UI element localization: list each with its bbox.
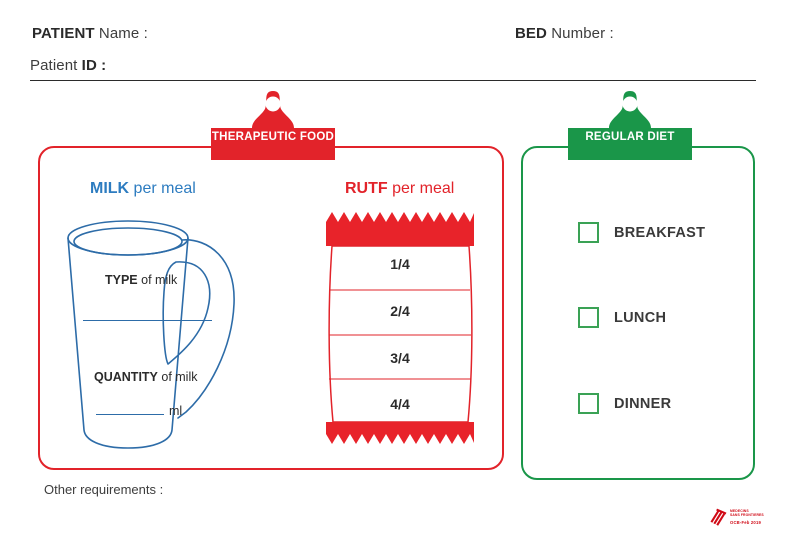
patient-id-label-strong: ID :: [82, 57, 107, 74]
milk-unit-label: ml: [169, 404, 182, 418]
msf-logo: MEDECINS SANS FRONTIERES OCB-Feb 2019: [708, 506, 778, 538]
milk-quantity-strong: QUANTITY: [94, 370, 158, 384]
milk-heading-strong: MILK: [90, 180, 129, 197]
msf-logo-mark-icon: [708, 507, 728, 527]
tab-regular-diet[interactable]: REGULAR DIET: [568, 90, 692, 160]
bed-number-label-rest: Number :: [547, 25, 614, 42]
checkbox-breakfast[interactable]: [578, 222, 599, 243]
milk-quantity-label: QUANTITY of milk: [94, 370, 197, 384]
milk-section-heading: MILK per meal: [90, 180, 196, 198]
msf-reference-code: OCB-Feb 2019: [730, 520, 761, 525]
form-page: PATIENT Name : BED Number : Patient ID :…: [0, 0, 785, 551]
patient-name-label-strong: PATIENT: [32, 25, 95, 42]
patient-id-field[interactable]: Patient ID :: [30, 57, 106, 74]
checkbox-dinner[interactable]: [578, 393, 599, 414]
header-divider: [30, 80, 756, 81]
rutf-section-heading: RUTF per meal: [345, 180, 454, 198]
rutf-fraction[interactable]: 1/4: [322, 256, 478, 272]
bed-number-label-strong: BED: [515, 25, 547, 42]
rutf-heading-rest: per meal: [388, 180, 455, 197]
patient-id-label-rest: Patient: [30, 57, 82, 74]
patient-name-label-rest: Name :: [95, 25, 148, 42]
rutf-heading-strong: RUTF: [345, 180, 388, 197]
milk-type-strong: TYPE: [105, 273, 138, 287]
milk-type-label: TYPE of milk: [105, 273, 177, 287]
msf-wordmark: MEDECINS SANS FRONTIERES: [730, 509, 764, 518]
meal-option-lunch[interactable]: LUNCH: [578, 307, 666, 328]
meal-option-breakfast[interactable]: BREAKFAST: [578, 222, 705, 243]
tab-therapeutic-food[interactable]: THERAPEUTIC FOOD: [211, 90, 335, 160]
milk-heading-rest: per meal: [129, 180, 196, 197]
meal-option-dinner[interactable]: DINNER: [578, 393, 671, 414]
tab-regular-diet-label: REGULAR DIET: [568, 131, 692, 143]
rutf-fraction[interactable]: 2/4: [322, 303, 478, 319]
checkbox-lunch[interactable]: [578, 307, 599, 328]
other-requirements-label: Other requirements :: [44, 482, 163, 497]
msf-wordmark-line2: SANS FRONTIERES: [730, 513, 764, 517]
milk-quantity-input-line[interactable]: [96, 414, 164, 415]
meal-label-lunch: LUNCH: [614, 310, 666, 326]
rutf-sachet-illustration: [322, 210, 478, 458]
rutf-fraction[interactable]: 3/4: [322, 350, 478, 366]
meal-label-breakfast: BREAKFAST: [614, 225, 705, 241]
milk-type-rest: of milk: [138, 273, 178, 287]
meal-label-dinner: DINNER: [614, 396, 671, 412]
milk-quantity-rest: of milk: [158, 370, 198, 384]
tab-therapeutic-food-label: THERAPEUTIC FOOD: [211, 131, 335, 143]
milk-mug-illustration: [58, 212, 258, 458]
regular-diet-tab-shape: [568, 90, 692, 160]
milk-type-input-line[interactable]: [83, 320, 212, 321]
other-requirements-field[interactable]: Other requirements :: [44, 482, 163, 497]
bed-number-field[interactable]: BED Number :: [515, 25, 614, 42]
rutf-fraction[interactable]: 4/4: [322, 396, 478, 412]
therapeutic-tab-shape: [211, 90, 335, 160]
patient-name-field[interactable]: PATIENT Name :: [32, 25, 148, 42]
